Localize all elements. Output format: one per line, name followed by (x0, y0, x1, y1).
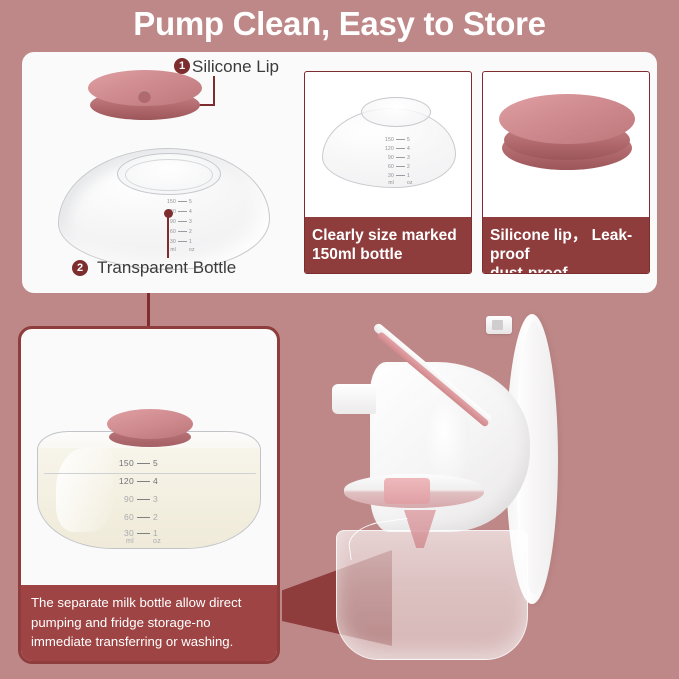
panel-size-marked: 1505 1204 903 602 301 mloz (304, 71, 472, 274)
panel-size-marked-art: 1505 1204 903 602 301 mloz (305, 72, 471, 217)
graduation-units: mloz (116, 538, 162, 545)
graduation-mark: 301 (116, 528, 162, 538)
exploded-view: 1 Silicone Lip 1505 1204 903 (22, 52, 300, 293)
bottom-left-panel: 1505 1204 903 602 301 mloz (18, 326, 280, 664)
page-title: Pump Clean, Easy to Store (0, 2, 679, 46)
caption-line-2: dust-proof (490, 264, 642, 274)
caption-line-1: Silicone lip， Leak-proof (490, 226, 642, 264)
graduation-mark: 1204 (381, 146, 414, 152)
callout-badge-1: 1 (174, 58, 190, 74)
milk-bottle-art: 1505 1204 903 602 301 mloz (21, 329, 277, 585)
silicone-lid-top (499, 94, 635, 144)
graduation-mark: 903 (116, 494, 162, 504)
transparent-bottle-illustration: 1505 1204 903 602 301 mloz (58, 148, 270, 270)
graduation-mark: 1204 (116, 476, 162, 486)
callout-label-2: Transparent Bottle (97, 258, 236, 278)
bottle-neck-inner (125, 159, 213, 191)
infographic-stage: Pump Clean, Easy to Store 1 Silicone Lip… (0, 0, 679, 679)
bottom-left-caption: The separate milk bottle allow direct pu… (21, 585, 277, 661)
milk-bottle-body: 1505 1204 903 602 301 mloz (37, 431, 261, 549)
panel-silicone-lip: Silicone lip， Leak-proof dust-proof (482, 71, 650, 274)
callout-label-1: Silicone Lip (192, 57, 279, 77)
callout-lead-line-2 (167, 216, 169, 258)
graduation-mark: 1505 (381, 137, 414, 143)
graduation-units: mloz (381, 180, 414, 186)
panel-silicone-lip-art (483, 72, 649, 217)
pump-cup-tab (384, 478, 430, 504)
panel-silicone-lip-caption: Silicone lip， Leak-proof dust-proof (483, 217, 649, 273)
breast-pump-assembly (330, 300, 679, 679)
callout-lead-line-1 (213, 76, 215, 106)
graduation-mark: 903 (381, 155, 414, 161)
graduation-mark: 602 (381, 164, 414, 170)
top-card: 1 Silicone Lip 1505 1204 903 (22, 52, 657, 293)
pump-arm-clip-slot (492, 320, 503, 330)
silicone-lid-nub (138, 90, 151, 103)
graduation-mark: 301 (381, 173, 414, 179)
milk-bottle-illustration: 1505 1204 903 602 301 mloz (37, 409, 261, 549)
graduation-mark: 1505 (116, 458, 162, 468)
caption-line-2: 150ml bottle (312, 245, 464, 264)
pump-hinge-arm (378, 322, 504, 434)
milk-bottle-lid-top (107, 409, 193, 439)
caption-line-1: Clearly size marked (312, 226, 464, 245)
panel-size-marked-caption: Clearly size marked 150ml bottle (305, 217, 471, 273)
pump-side-stub (332, 384, 376, 414)
size-marked-bottle-neck (361, 97, 431, 127)
graduation-mark: 1505 (163, 199, 196, 205)
callout-badge-2: 2 (72, 260, 88, 276)
pump-arm-bar-pink (377, 331, 490, 428)
graduation-mark: 602 (116, 512, 162, 522)
size-marked-bottle-illustration: 1505 1204 903 602 301 mloz (322, 108, 456, 188)
